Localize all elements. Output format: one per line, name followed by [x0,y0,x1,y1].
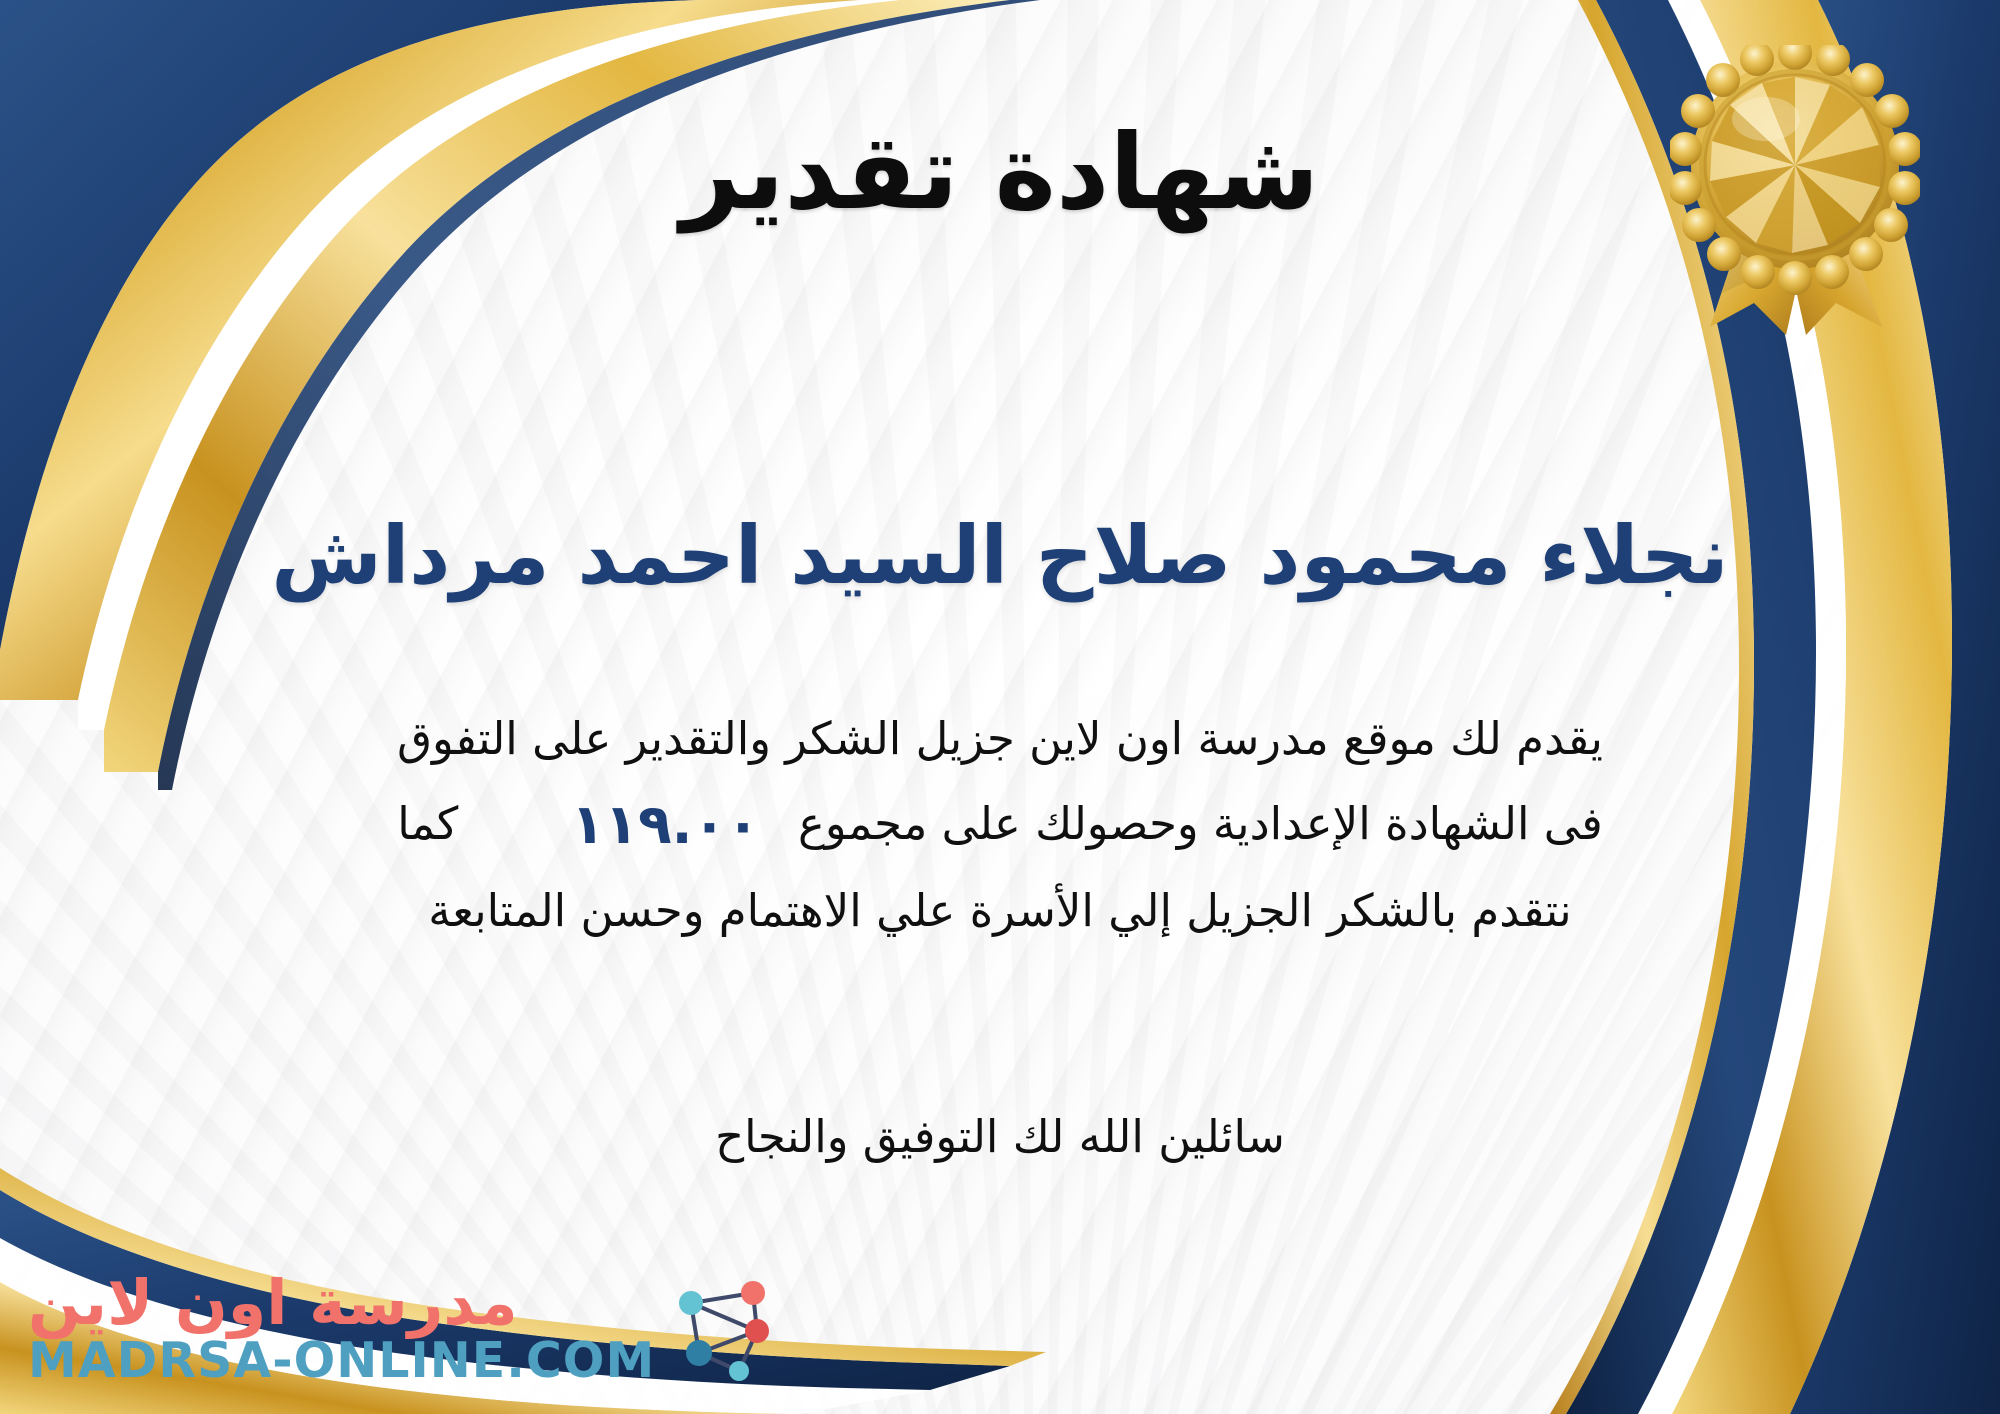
brand-name-arabic: مدرسة اون لاين [28,1271,518,1334]
network-nodes-icon [669,1273,781,1385]
certificate-body: يقدم لك موقع مدرسة اون لاين جزيل الشكر و… [250,700,1750,949]
brand-logo[interactable]: مدرسة اون لاين MADRSA-ONLINE.COM [28,1271,781,1386]
brand-text: مدرسة اون لاين MADRSA-ONLINE.COM [28,1271,655,1386]
body-line-3: نتقدم بالشكر الجزيل إلي الأسرة علي الاهت… [250,872,1750,949]
student-name: نجلاء محمود صلاح السيد احمد مرداش [60,510,1940,602]
body-line-1: يقدم لك موقع مدرسة اون لاين جزيل الشكر و… [250,700,1750,777]
brand-website: MADRSA-ONLINE.COM [28,1335,655,1386]
body-line-2-tail: كما [397,797,458,850]
certificate-page: شهادة تقدير نجلاء محمود صلاح السيد احمد … [0,0,2000,1414]
body-line-2: فى الشهادة الإعدادية وحصولك على مجموع ١١… [250,777,1750,872]
certificate-title: شهادة تقدير [0,118,2000,227]
total-score-value: ١١٩.٠٠ [547,777,784,872]
body-line-2-text: فى الشهادة الإعدادية وحصولك على مجموع [798,797,1603,850]
closing-wish: سائلين الله لك التوفيق والنجاح [250,1110,1750,1163]
